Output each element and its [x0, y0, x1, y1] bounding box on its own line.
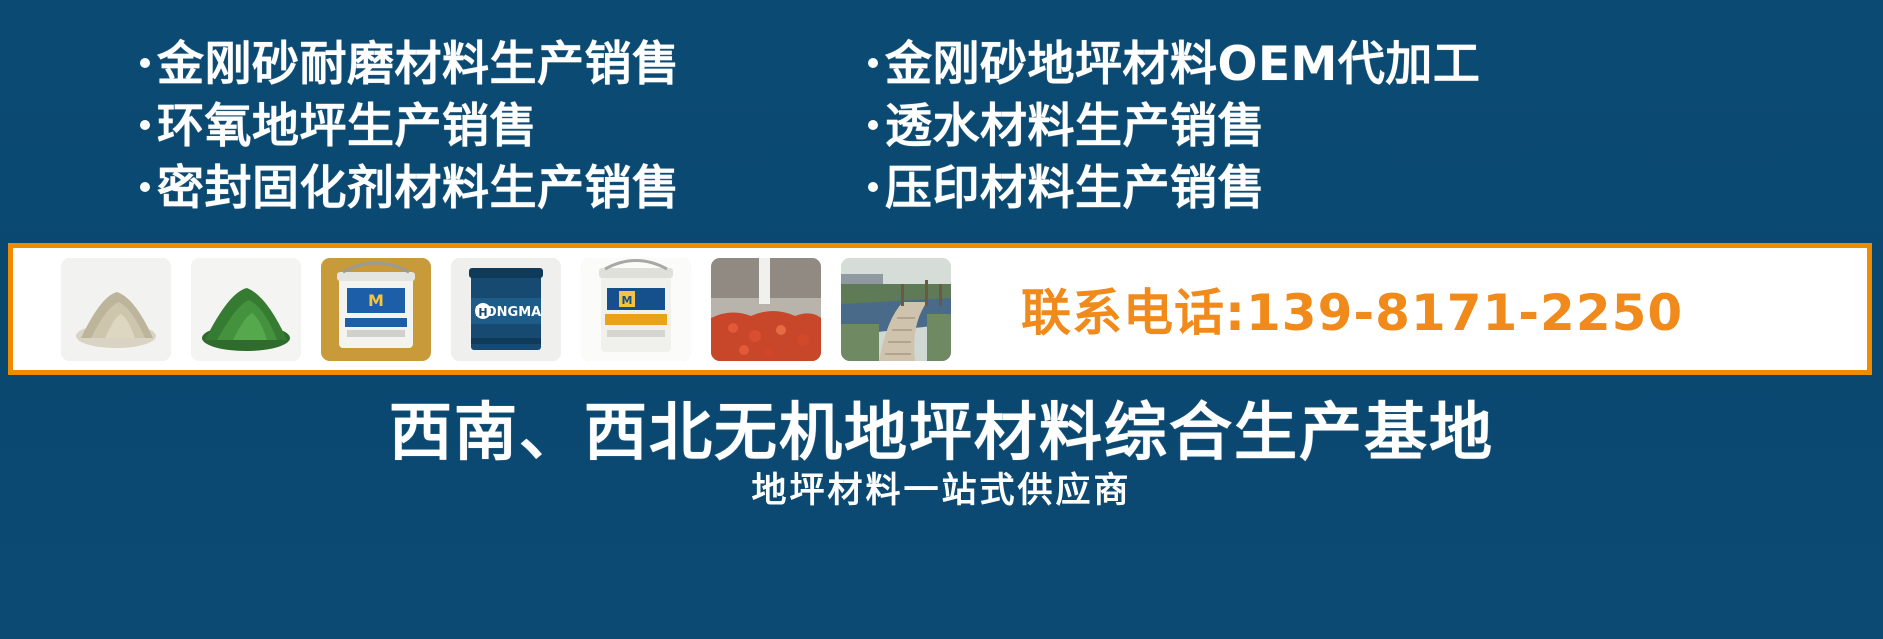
thumb-red-pour — [711, 258, 821, 361]
feature-label: 透水材料生产销售 — [885, 96, 1265, 158]
product-strip: M HONGMA H — [8, 243, 1872, 375]
bullet-dot-icon — [868, 182, 878, 192]
bullet-dot-icon — [868, 58, 878, 68]
product-thumbnail-list: M HONGMA H — [61, 258, 951, 361]
feature-label: 密封固化剂材料生产销售 — [157, 158, 680, 220]
feature-label: 环氧地坪生产销售 — [157, 96, 537, 158]
feature-label: 压印材料生产销售 — [885, 158, 1265, 220]
thumb-sand-powder — [61, 258, 171, 361]
bullet-dot-icon — [140, 182, 150, 192]
thumb-bucket-hongma: HONGMA H — [451, 258, 561, 361]
contact-phone[interactable]: 联系电话:139-8171-2250 — [1021, 273, 1683, 345]
feature-item: 压印材料生产销售 — [868, 158, 1628, 220]
headline-title: 西南、西北无机地坪材料综合生产基地 — [0, 382, 1883, 473]
thumb-bucket-epoxy: M — [581, 258, 691, 361]
feature-item: 透水材料生产销售 — [868, 96, 1628, 158]
promo-banner: 金刚砂耐磨材料生产销售 环氧地坪生产销售 密封固化剂材料生产销售 金刚砂地坪材料… — [0, 0, 1883, 639]
feature-item: 金刚砂地坪材料OEM代加工 — [868, 34, 1628, 96]
bullet-dot-icon — [868, 120, 878, 130]
feature-column-left: 金刚砂耐磨材料生产销售 环氧地坪生产销售 密封固化剂材料生产销售 — [140, 34, 860, 230]
feature-item: 金刚砂耐磨材料生产销售 — [140, 34, 860, 96]
svg-text:M: M — [368, 291, 384, 310]
feature-label: 金刚砂地坪材料OEM代加工 — [885, 34, 1480, 96]
thumb-stamped-path — [841, 258, 951, 361]
feature-list: 金刚砂耐磨材料生产销售 环氧地坪生产销售 密封固化剂材料生产销售 金刚砂地坪材料… — [0, 34, 1883, 230]
svg-text:H: H — [478, 306, 487, 319]
thumb-green-powder — [191, 258, 301, 361]
svg-text:M: M — [622, 294, 633, 307]
bullet-dot-icon — [140, 120, 150, 130]
thumb-bucket-sealer: M — [321, 258, 431, 361]
feature-column-right: 金刚砂地坪材料OEM代加工 透水材料生产销售 压印材料生产销售 — [868, 34, 1628, 230]
feature-item: 密封固化剂材料生产销售 — [140, 158, 860, 220]
headline-subtitle: 地坪材料一站式供应商 — [0, 462, 1883, 513]
feature-item: 环氧地坪生产销售 — [140, 96, 860, 158]
bullet-dot-icon — [140, 58, 150, 68]
feature-label: 金刚砂耐磨材料生产销售 — [157, 34, 680, 96]
